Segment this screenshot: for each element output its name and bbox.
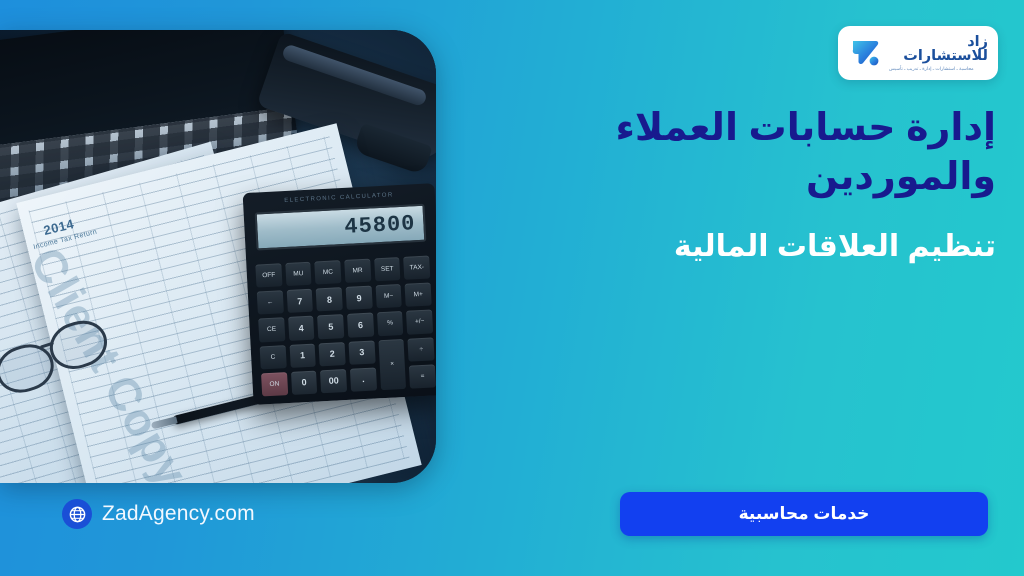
calc-key: 6 [347,313,374,338]
brand-logo[interactable]: زاد للاستشارات محاسبة ـ استشارات ـ إدارة… [838,26,998,80]
calc-key: MR [344,259,371,283]
calc-key: 0 [291,370,318,395]
calc-key: . [350,367,377,392]
calc-key: % [377,311,404,336]
calc-key: M− [375,284,402,309]
calc-key: 00 [320,369,347,394]
calc-key: SET [374,257,401,281]
calc-key: = [409,364,436,389]
brand-tagline: محاسبة ـ استشارات ـ إدارة ـ تدريب ـ تأسي… [889,67,974,72]
calc-key: 4 [288,316,315,341]
calc-key: 2 [319,342,346,367]
promo-banner: 2014 Income Tax Return Client Copy ELECT… [0,0,1024,576]
calculator-keypad: OFF MU MC MR SET TAX- ← 7 8 9 M− M+ CE 4… [255,255,436,396]
calculator-display-value: 45800 [344,211,416,240]
website-badge[interactable]: ZadAgency.com [62,496,255,532]
calc-key: OFF [255,263,282,287]
calc-key: M+ [405,283,432,308]
calc-key: +/− [406,310,433,335]
brand-name: زاد للاستشارات [889,35,988,64]
calc-key: ← [257,290,284,315]
website-url: ZadAgency.com [102,502,255,526]
calc-key: MU [285,262,312,286]
text-block: إدارة حسابات العملاء والموردين تنظيم الع… [596,104,996,266]
brand-logo-text: زاد للاستشارات محاسبة ـ استشارات ـ إدارة… [889,35,988,72]
calculator: ELECTRONIC CALCULATOR 45800 OFF MU MC MR… [243,183,436,405]
calc-key: 3 [348,340,375,365]
calc-key: 5 [317,314,344,339]
calc-key: 7 [286,289,313,314]
calc-key: ON [261,372,288,397]
calc-key: C [260,345,287,370]
globe-icon [62,499,92,529]
calc-key: CE [258,318,285,343]
page-title: إدارة حسابات العملاء والموردين [596,104,996,201]
hero-photo: 2014 Income Tax Return Client Copy ELECT… [0,30,436,483]
calc-key: 1 [289,343,316,368]
calculator-display: 45800 [255,204,427,251]
page-subtitle: تنظيم العلاقات المالية [596,227,996,266]
calc-key: 8 [316,287,343,312]
calc-key: MC [315,260,342,284]
calc-key: ÷ [408,337,435,362]
zad-monogram-icon [848,36,882,70]
calc-key: × [378,339,406,391]
calc-key: 9 [346,286,373,311]
calc-key: TAX- [403,255,430,279]
accounting-services-button[interactable]: خدمات محاسبية [620,492,988,536]
